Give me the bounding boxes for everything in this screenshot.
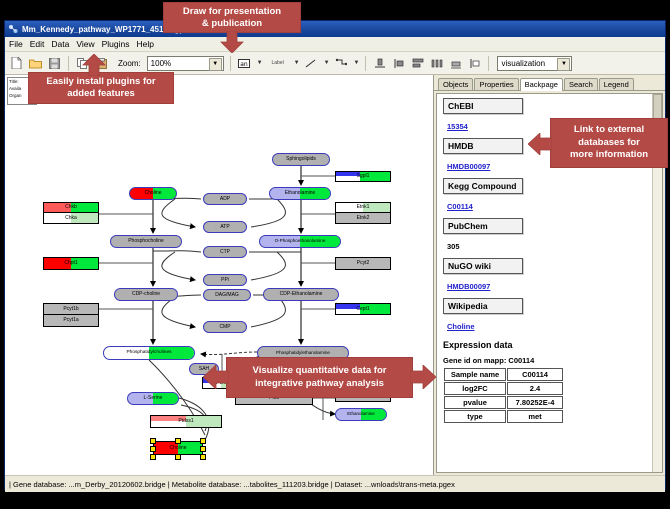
node-label: Phosphatidylcholines — [126, 351, 171, 356]
menu-item-file[interactable]: File — [9, 39, 23, 49]
selection-handle-se[interactable] — [200, 454, 206, 460]
callout-links: Link to external databases for more info… — [550, 118, 668, 168]
node-label: Phosphatidylethanolamine — [276, 351, 330, 356]
toolbar-separator — [68, 56, 69, 71]
node-dag-mag[interactable]: DAG/MAG — [203, 289, 251, 301]
node-ppi[interactable]: PPi — [203, 274, 247, 286]
callout-plugins-line2: added features — [67, 88, 135, 100]
toolbar-separator-3 — [365, 56, 366, 71]
expression-table: Sample name C00114 log2FC 2.4 pvalue 7.8… — [443, 367, 564, 424]
node-label: Choline — [145, 191, 162, 196]
node-atp[interactable]: ATP — [203, 221, 247, 233]
callout-draw-arrow-icon — [216, 31, 248, 53]
callout-plugins-line1: Easily install plugins for — [46, 76, 155, 88]
toolbar-separator-4 — [488, 56, 489, 71]
expr-val-sample-name: C00114 — [507, 368, 563, 381]
menu-item-help[interactable]: Help — [137, 39, 154, 49]
node-label: CMP — [219, 325, 230, 330]
menu-bar: File Edit Data View Plugins Help — [5, 37, 665, 52]
align-top-icon[interactable] — [372, 56, 387, 71]
backpage-header-wikipedia: Wikipedia — [443, 298, 523, 314]
zoom-value: 100% — [151, 59, 171, 68]
chevron-down-icon[interactable]: ▼ — [209, 58, 222, 71]
node-etnk1[interactable]: Etnk1 — [335, 202, 391, 213]
node-ethanolamine-top[interactable]: Ethanolamine — [269, 187, 331, 200]
expr-key-pvalue: pvalue — [444, 396, 506, 409]
node-label: Cept1 — [356, 307, 369, 312]
tab-objects[interactable]: Objects — [438, 78, 473, 90]
backpage-header-hmdb: HMDB — [443, 138, 523, 154]
selection-handle-e[interactable] — [200, 446, 206, 452]
backpage-header-chebi: ChEBI — [443, 98, 523, 114]
expr-key-log2fc: log2FC — [444, 382, 506, 395]
size-icon[interactable] — [448, 56, 463, 71]
zoom-combobox[interactable]: 100% ▼ — [147, 56, 224, 71]
node-pcyt1a[interactable]: Pcyt1a — [43, 315, 99, 327]
connector-icon[interactable] — [334, 56, 349, 71]
callout-visualize-line1: Visualize quantitative data for — [253, 365, 387, 378]
callout-visualize-arrow-left-icon — [203, 365, 229, 389]
node-label: Pcyt2 — [357, 261, 370, 266]
tab-backpage[interactable]: Backpage — [520, 78, 563, 91]
node-l-serine-left[interactable]: L-Serine — [127, 392, 179, 405]
node-etnk2[interactable]: Etnk2 — [335, 213, 391, 224]
line-dropdown-icon[interactable]: ▼ — [324, 60, 330, 66]
backpage-header-nugo: NuGO wiki — [443, 258, 523, 274]
node-label: ATP — [220, 225, 229, 230]
status-bar: | Gene database: ...m_Derby_20120602.bri… — [5, 475, 665, 492]
expr-val-log2fc: 2.4 — [507, 382, 563, 395]
backpage-link-kegg[interactable]: C00114 — [447, 202, 473, 211]
datanode-icon[interactable]: an — [237, 56, 252, 71]
tab-search[interactable]: Search — [564, 78, 598, 90]
save-icon[interactable] — [47, 56, 62, 71]
svg-text:an: an — [240, 61, 248, 68]
backpage-link-hmdb[interactable]: HMDB00097 — [447, 162, 490, 171]
label-dropdown-icon[interactable]: ▼ — [294, 60, 300, 66]
node-phosphatidylcholines[interactable]: Phosphatidylcholines — [103, 346, 195, 360]
node-ethanolamine-right[interactable]: Ethanolamine — [335, 408, 387, 421]
tab-legend[interactable]: Legend — [599, 78, 634, 90]
align-left-icon[interactable] — [391, 56, 406, 71]
callout-visualize-arrow-right-icon — [410, 365, 436, 389]
new-file-icon[interactable] — [9, 56, 24, 71]
visualization-value: visualization — [501, 59, 545, 68]
menu-item-data[interactable]: Data — [51, 39, 69, 49]
node-label: Etnk2 — [357, 216, 370, 221]
node-label: Choline — [170, 446, 187, 451]
menu-item-edit[interactable]: Edit — [30, 39, 45, 49]
table-row: type met — [444, 410, 563, 423]
gene-id-line: Gene id on mapp: C00114 — [443, 356, 656, 365]
node-o-phosphoethanolamine[interactable]: O-Phosphoethanolamine — [259, 235, 341, 248]
node-phosphocholine[interactable]: Phosphocholine — [110, 235, 182, 248]
backpage-value-pubchem: 305 — [447, 242, 460, 251]
node-label: Ethanolamine — [285, 191, 316, 196]
order-icon[interactable] — [467, 56, 482, 71]
backpage-link-chebi[interactable]: 15354 — [447, 122, 468, 131]
node-label: Phosphocholine — [128, 239, 164, 244]
node-cdp-ethanolamine[interactable]: CDP-Ethanolamine — [263, 288, 339, 301]
stack-vertical-icon[interactable] — [410, 56, 425, 71]
node-label: O-Phosphoethanolamine — [275, 239, 326, 244]
zoom-label: Zoom: — [118, 59, 141, 68]
node-label: DAG/MAG — [215, 293, 239, 298]
node-label: Ptdss1 — [178, 419, 193, 424]
line-icon[interactable] — [304, 56, 319, 71]
selection-handle-s[interactable] — [175, 454, 181, 460]
tab-properties[interactable]: Properties — [474, 78, 518, 90]
expression-data-heading: Expression data — [443, 340, 656, 350]
node-ctp[interactable]: CTP — [203, 246, 247, 258]
node-pcyt2[interactable]: Pcyt2 — [335, 257, 391, 270]
selection-handle-ne[interactable] — [200, 438, 206, 444]
callout-visualize: Visualize quantitative data for integrat… — [226, 357, 413, 398]
backpage-header-pubchem: PubChem — [443, 218, 523, 234]
toolbar-separator-2 — [230, 56, 231, 71]
node-pcyt1b[interactable]: Pcyt1b — [43, 303, 99, 315]
callout-links-line1: Link to external — [574, 124, 644, 136]
selection-handle-sw[interactable] — [150, 454, 156, 460]
datanode-dropdown-icon[interactable]: ▼ — [257, 60, 263, 66]
expr-val-type: met — [507, 410, 563, 423]
menu-item-view[interactable]: View — [76, 39, 94, 49]
callout-plugins-arrow-icon — [78, 54, 110, 76]
node-label: ADP — [220, 197, 230, 202]
node-sphingolipids[interactable]: Sphingolipids — [272, 153, 330, 166]
callout-draw-line2: & publication — [202, 18, 262, 30]
menu-item-plugins[interactable]: Plugins — [102, 39, 130, 49]
node-ptdss1[interactable]: Ptdss1 — [150, 415, 222, 428]
node-adp[interactable]: ADP — [203, 193, 247, 205]
node-label: Chkb — [65, 205, 77, 210]
node-label: Etnk1 — [357, 205, 370, 210]
node-label: L-Serine — [144, 396, 163, 401]
selection-handle-w[interactable] — [150, 446, 156, 452]
node-choline-top[interactable]: Choline — [129, 187, 177, 200]
node-label: CDP-choline — [132, 292, 160, 297]
backpage-header-kegg: Kegg Compound — [443, 178, 523, 194]
visualization-combobox[interactable]: visualization ▼ — [497, 56, 572, 71]
node-sgpl1[interactable]: Sgpl1 — [335, 171, 391, 182]
node-label: Pcyt1b — [63, 307, 78, 312]
node-label: Ethanolamine — [347, 412, 375, 417]
status-text: | Gene database: ...m_Derby_20120602.bri… — [9, 480, 455, 489]
selection-handle-n[interactable] — [175, 438, 181, 444]
node-label: Sphingolipids — [286, 157, 316, 162]
backpage-link-nugo[interactable]: HMDB00097 — [447, 282, 490, 291]
title-bar: Mm_Kennedy_pathway_WP1771_45176.gpml — [5, 21, 665, 37]
node-cdp-choline[interactable]: CDP-choline — [114, 288, 178, 301]
node-chpt1[interactable]: Chpt1 — [43, 257, 99, 270]
node-chkb[interactable]: Chkb — [43, 202, 99, 213]
expr-val-pvalue: 7.80252E-4 — [507, 396, 563, 409]
selection-handle-nw[interactable] — [150, 438, 156, 444]
side-panel-tabs: Objects Properties Backpage Search Legen… — [434, 75, 665, 91]
callout-links-line3: more information — [570, 149, 648, 161]
node-label: Pcyt1a — [63, 318, 78, 323]
node-label: CDP-Ethanolamine — [280, 292, 323, 297]
callout-plugins: Easily install plugins for added feature… — [28, 72, 174, 104]
table-row: Sample name C00114 — [444, 368, 563, 381]
expr-key-sample-name: Sample name — [444, 368, 506, 381]
node-chka[interactable]: Chka — [43, 213, 99, 224]
node-cept1[interactable]: Cept1 — [335, 303, 391, 315]
callout-links-line2: databases for — [578, 137, 640, 149]
node-label: Chpt1 — [64, 261, 77, 266]
pathvisio-icon — [8, 24, 18, 34]
pathway-canvas[interactable]: Title: Availa Organ — [5, 75, 434, 475]
backpage-link-wikipedia[interactable]: Choline — [447, 322, 475, 331]
node-label: Sgpl1 — [357, 174, 370, 179]
label-icon[interactable]: Label — [267, 56, 289, 71]
distribute-icon[interactable] — [429, 56, 444, 71]
callout-draw-line1: Draw for presentation — [183, 6, 281, 18]
table-row: pvalue 7.80252E-4 — [444, 396, 563, 409]
node-label: Chka — [65, 216, 77, 221]
callout-links-arrow-icon — [528, 133, 552, 155]
chevron-down-icon-2[interactable]: ▼ — [557, 58, 570, 71]
node-cmp[interactable]: CMP — [203, 321, 247, 333]
callout-draw: Draw for presentation & publication — [163, 2, 301, 33]
callout-visualize-line2: integrative pathway analysis — [255, 378, 384, 391]
expr-key-type: type — [444, 410, 506, 423]
connector-dropdown-icon[interactable]: ▼ — [354, 60, 360, 66]
node-label: CTP — [220, 250, 230, 255]
table-row: log2FC 2.4 — [444, 382, 563, 395]
node-label: PPi — [221, 278, 229, 283]
open-folder-icon[interactable] — [28, 56, 43, 71]
